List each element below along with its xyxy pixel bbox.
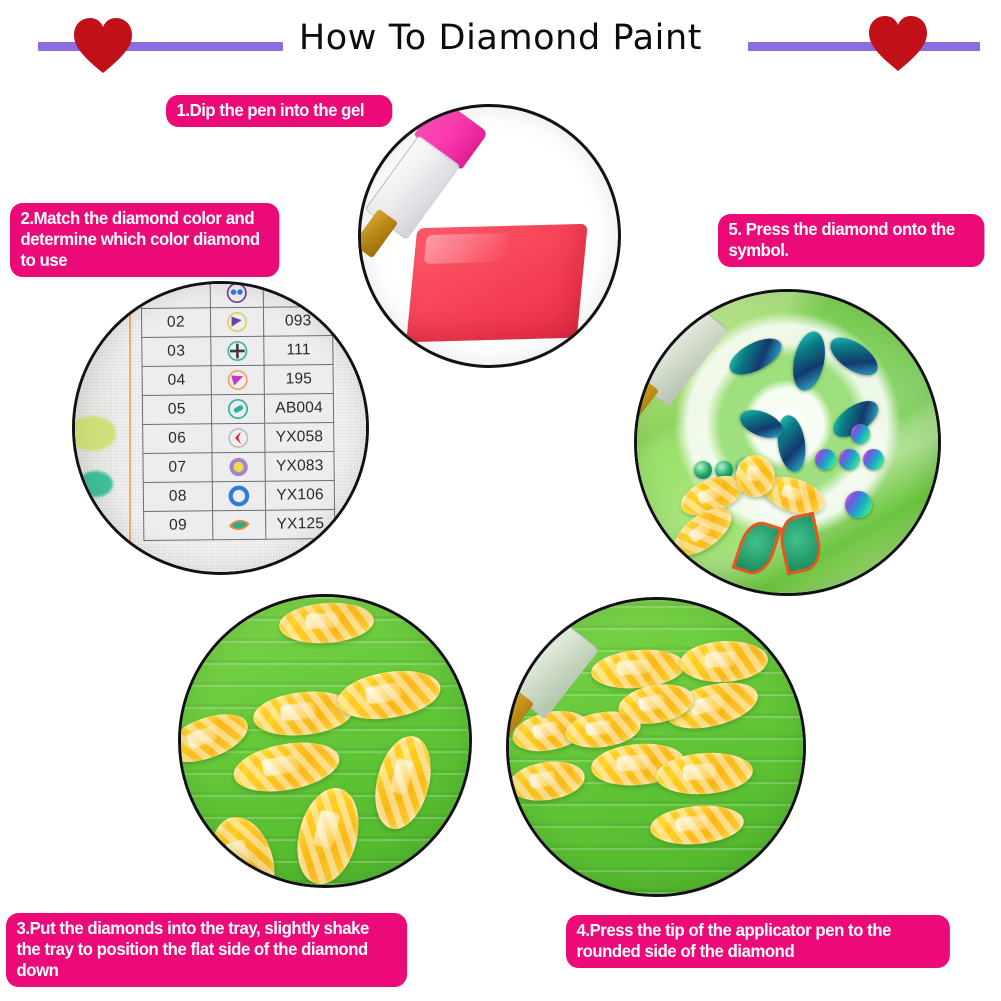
- plus-cross-symbol: [226, 340, 248, 362]
- color-code-chart-photo: 028 02 093 03: [75, 284, 366, 572]
- step-5-label: 5. Press the diamond onto the symbol.: [718, 214, 984, 267]
- yellow-dot-symbol: [227, 456, 249, 478]
- cell-number: [141, 281, 210, 309]
- iridescent-gem: [863, 449, 884, 470]
- table-row-partial: 028: [141, 281, 332, 309]
- blue-ring-symbol: [228, 485, 250, 507]
- cell-symbol: [212, 481, 266, 511]
- infographic-page: How To Diamond Paint 1.Dip the pen into …: [0, 0, 1001, 1001]
- cell-symbol: [210, 281, 264, 308]
- page-title: How To Diamond Paint: [0, 18, 1001, 58]
- step-1-photo-circle: [358, 104, 621, 368]
- teal-capsule-symbol: [227, 398, 249, 420]
- cell-symbol: [210, 336, 264, 366]
- cell-code: YX083: [265, 451, 334, 481]
- iridescent-gem: [839, 449, 860, 470]
- step-4-photo-circle: [506, 597, 806, 897]
- purple-triangle-symbol: [226, 311, 248, 333]
- cell-symbol: [212, 510, 266, 540]
- cell-number: 08: [143, 482, 212, 512]
- cell-code: 111: [264, 336, 333, 366]
- cell-number: 09: [143, 511, 212, 541]
- header-banner: How To Diamond Paint: [0, 0, 1001, 90]
- cell-code: YX106: [265, 480, 334, 510]
- cell-symbol: [211, 423, 265, 453]
- table-row: 05 AB004: [142, 394, 333, 425]
- green-gem: [694, 461, 712, 479]
- cell-code: YX058: [265, 422, 334, 452]
- pen-dipping-into-gel-photo: [361, 107, 618, 365]
- table-row: 08 YX106: [143, 480, 334, 511]
- table-row: 03 111: [142, 336, 333, 367]
- canvas-color-blob-1: [72, 416, 116, 451]
- cell-symbol: [211, 394, 265, 424]
- gel-pad: [407, 223, 588, 341]
- cell-code: 195: [264, 365, 333, 395]
- step-2-photo-circle: 028 02 093 03: [72, 281, 369, 575]
- cell-number: 06: [143, 424, 212, 454]
- step-5-photo-circle: [634, 289, 941, 596]
- cell-symbol: [210, 307, 264, 337]
- step-3-label: 3.Put the diamonds into the tray, slight…: [6, 913, 407, 987]
- double-circle-symbol: [226, 282, 248, 304]
- red-arrow-symbol: [227, 427, 249, 449]
- cell-code: YX125: [266, 509, 335, 539]
- cell-number: 07: [143, 453, 212, 483]
- cell-code: 093: [264, 307, 333, 337]
- table-row: 04 195: [142, 365, 333, 396]
- table-row: 02 093: [141, 307, 332, 338]
- cell-number: 02: [141, 308, 210, 338]
- green-leaf-symbol: [228, 514, 250, 536]
- step-2-label: 2.Match the diamond color and determine …: [10, 203, 279, 277]
- iridescent-gem: [845, 491, 872, 518]
- cell-number: 03: [142, 337, 211, 367]
- step-4-label: 4.Press the tip of the applicator pen to…: [566, 915, 950, 968]
- diamonds-in-tray-photo: [181, 597, 469, 885]
- magenta-triangle-symbol: [227, 369, 249, 391]
- diamond-pressed-onto-canvas-photo: [637, 292, 938, 593]
- cell-number: 05: [142, 395, 211, 425]
- iridescent-gem: [815, 449, 836, 470]
- cell-code: AB004: [265, 394, 334, 424]
- iridescent-gem: [851, 424, 871, 444]
- canvas-color-blob-2: [78, 471, 113, 497]
- step-1-label: 1.Dip the pen into the gel: [166, 95, 392, 127]
- cell-symbol: [211, 365, 265, 395]
- color-code-table-body: 028 02 093 03: [141, 281, 335, 540]
- chart-margin-rule-left: [129, 284, 132, 572]
- step-3-photo-circle: [178, 594, 472, 888]
- cell-symbol: [212, 452, 266, 482]
- pen-picking-up-diamond-photo: [509, 600, 803, 894]
- table-row: 07 YX083: [143, 451, 334, 482]
- cell-number: 04: [142, 366, 211, 396]
- table-row: 06 YX058: [143, 422, 334, 453]
- cell-code: 028: [263, 281, 332, 307]
- table-row: 09 YX125: [143, 509, 334, 540]
- color-code-table: 028 02 093 03: [141, 281, 336, 541]
